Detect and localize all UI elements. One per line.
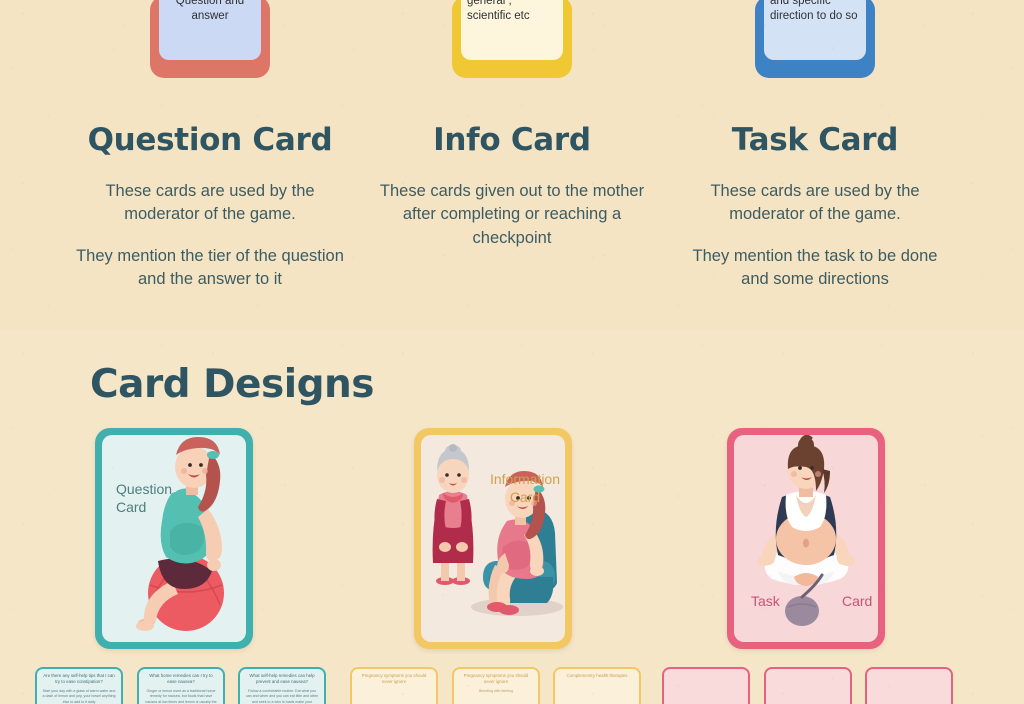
card-type-question-title: Question Card <box>57 122 363 158</box>
card-types-section: Question and answer Question Card These … <box>0 0 1024 330</box>
design-card-information-label-line-1: Information <box>477 471 565 489</box>
card-type-task-body-1: These cards are used by the moderator of… <box>662 180 968 227</box>
mini-card-task: and specific direction to do so <box>755 0 875 78</box>
mini-card-task-text: and specific direction to do so <box>770 0 860 24</box>
sample-card-teal-1-question: Are there any self-help tips that I can … <box>42 673 116 686</box>
pregnant-woman-on-exercise-ball-illustration <box>102 435 246 642</box>
design-card-question-label-line-2: Card <box>116 499 172 517</box>
sample-card-teal-1[interactable]: Are there any self-help tips that I can … <box>35 667 123 704</box>
sample-card-teal-1-body: Start your day with a glass of warm wate… <box>42 689 116 704</box>
sample-card-gold-2[interactable]: Pregnancy symptoms you should never igno… <box>452 667 540 704</box>
design-card-question-label: Question Card <box>116 481 172 516</box>
sample-card-teal-2[interactable]: What home remedies can I try to ease nau… <box>137 667 225 704</box>
sample-card-gold-3-question: Complementry health therapies <box>560 673 634 679</box>
card-type-info: general , scientific etc Info Card These… <box>359 0 665 250</box>
card-designs-section: Card Designs <box>0 330 1024 704</box>
card-type-question: Question and answer Question Card These … <box>57 0 363 292</box>
sample-card-gold-3-face: Complementry health therapies <box>555 669 639 704</box>
sample-card-rose-1[interactable] <box>662 667 750 704</box>
design-card-question[interactable]: Question Card <box>95 428 253 649</box>
sample-card-gold-2-question: Pregnancy symptoms you should never igno… <box>459 673 533 686</box>
sample-card-rose-3-face <box>867 669 951 704</box>
card-type-task-body-2: They mention the task to be done and som… <box>662 245 968 292</box>
design-card-task-label-line-1: Task <box>751 593 780 611</box>
card-type-question-body-1: These cards are used by the moderator of… <box>57 180 363 227</box>
sample-card-teal-3-question: What self-help remedies can help prevent… <box>245 673 319 686</box>
sample-card-gold-1[interactable]: Pregnancy symptoms you should never igno… <box>350 667 438 704</box>
sample-card-rose-2[interactable] <box>764 667 852 704</box>
card-type-info-body-1: These cards given out to the mother afte… <box>359 180 665 250</box>
design-card-information-label: Information Card <box>477 471 565 506</box>
card-type-question-body-2: They mention the tier of the question an… <box>57 245 363 292</box>
sample-card-rose-2-face <box>766 669 850 704</box>
card-type-task-title: Task Card <box>662 122 968 158</box>
design-card-task[interactable]: Task Card <box>727 428 885 649</box>
mini-card-info: general , scientific etc <box>452 0 572 78</box>
card-type-info-title: Info Card <box>359 122 665 158</box>
design-card-question-face: Question Card <box>102 435 246 642</box>
design-card-information-face: Information Card <box>421 435 565 642</box>
sample-card-gold-1-face: Pregnancy symptoms you should never igno… <box>352 669 436 704</box>
sample-card-gold-2-face: Pregnancy symptoms you should never igno… <box>454 669 538 704</box>
design-card-task-face: Task Card <box>734 435 878 642</box>
sample-card-rose-1-face <box>664 669 748 704</box>
mini-card-question-text: Question and answer <box>165 0 255 24</box>
design-card-task-label-line-2: Card <box>842 593 872 611</box>
sample-card-rose-3[interactable] <box>865 667 953 704</box>
elderly-woman-and-pregnant-woman-in-armchair-illustration <box>421 435 565 642</box>
design-card-question-label-line-1: Question <box>116 481 172 499</box>
sample-card-gold-1-question: Pregnancy symptoms you should never igno… <box>357 673 431 686</box>
sample-card-teal-2-question: What home remedies can I try to ease nau… <box>144 673 218 686</box>
sample-card-gold-2-body: Bleeding with fainting <box>459 689 533 694</box>
mini-card-info-inner: general , scientific etc <box>461 0 563 60</box>
design-card-information-label-line-2: Card <box>477 489 565 507</box>
mini-card-question-inner: Question and answer <box>159 0 261 60</box>
sample-card-teal-3-body: Follow a comfortable routine. Eat what y… <box>245 689 319 704</box>
card-designs-title: Card Designs <box>90 362 374 407</box>
sample-card-teal-3[interactable]: What self-help remedies can help prevent… <box>238 667 326 704</box>
mini-card-task-inner: and specific direction to do so <box>764 0 866 60</box>
mini-card-info-text: general , scientific etc <box>467 0 557 24</box>
sample-card-gold-3[interactable]: Complementry health therapies <box>553 667 641 704</box>
design-card-information[interactable]: Information Card <box>414 428 572 649</box>
mini-card-question: Question and answer <box>150 0 270 78</box>
sample-card-teal-1-face: Are there any self-help tips that I can … <box>37 669 121 704</box>
pregnant-woman-meditating-lotus-pose-illustration <box>734 435 878 642</box>
card-type-task: and specific direction to do so Task Car… <box>662 0 968 292</box>
sample-card-teal-3-face: What self-help remedies can help prevent… <box>240 669 324 704</box>
sample-card-teal-2-body: Ginger or lemon used as a traditional ho… <box>144 689 218 704</box>
sample-card-teal-2-face: What home remedies can I try to ease nau… <box>139 669 223 704</box>
